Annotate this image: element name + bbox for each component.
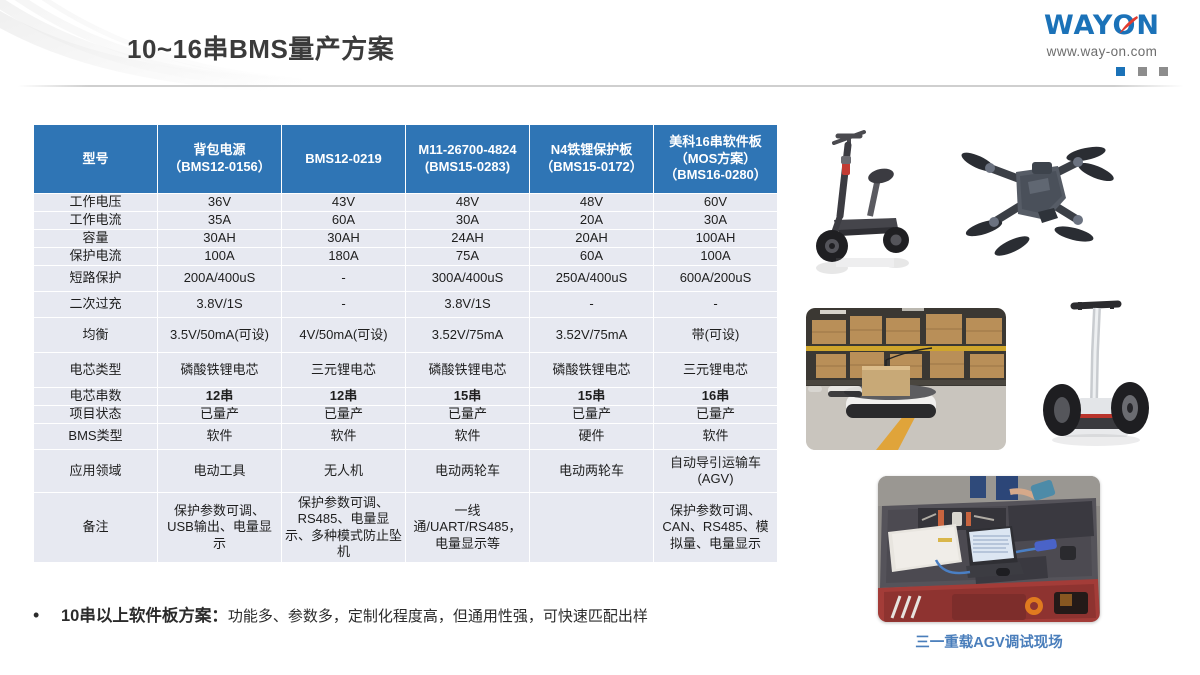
table-row: 短路保护 200A/400uS - 300A/400uS 250A/400uS … <box>34 266 777 291</box>
cell: 已量产 <box>406 406 529 423</box>
table-row: 工作电流 35A 60A 30A 20A 30A <box>34 212 777 229</box>
row-label-bms-type: BMS类型 <box>34 424 157 449</box>
cell: 电动工具 <box>158 450 281 492</box>
cell: 30A <box>654 212 777 229</box>
cell: 3.8V/1S <box>158 292 281 317</box>
column-header-bms12-0156: 背包电源 （BMS12-0156） <box>158 125 281 193</box>
table-row-cell-count: 电芯串数 12串 12串 15串 15串 16串 <box>34 388 777 405</box>
cell: 60V <box>654 194 777 211</box>
table-row: 容量 30AH 30AH 24AH 20AH 100AH <box>34 230 777 247</box>
logo-accent-swoosh-icon <box>1117 13 1139 33</box>
cell: - <box>282 266 405 291</box>
cell: 软件 <box>406 424 529 449</box>
cell: 软件 <box>158 424 281 449</box>
cell: 30A <box>406 212 529 229</box>
summary-bullet: • 10串以上软件板方案： 功能多、参数多，定制化程度高，但通用性强，可快速匹配… <box>33 602 648 626</box>
cell: 200A/400uS <box>158 266 281 291</box>
row-label-short-circuit: 短路保护 <box>34 266 157 291</box>
table-row: 均衡 3.5V/50mA(可设) 4V/50mA(可设) 3.52V/75mA … <box>34 318 777 352</box>
page-title: 10~16串BMS量产方案 <box>127 29 394 66</box>
logo-square-3-icon <box>1159 67 1168 76</box>
drone-photo <box>950 128 1120 263</box>
cell-highlight: 16串 <box>654 388 777 405</box>
logo-wordmark: WAYON <box>1018 12 1186 39</box>
column-header-bms15-0172: N4铁锂保护板 （BMS15-0172） <box>530 125 653 193</box>
table-header-row: 型号 背包电源 （BMS12-0156） BMS12-0219 M11-2670… <box>34 125 777 193</box>
electric-scooter-photo <box>808 118 920 278</box>
column-header-bms16-0280: 美科16串软件板 （MOS方案） （BMS16-0280） <box>654 125 777 193</box>
cell: 已量产 <box>282 406 405 423</box>
cell: 24AH <box>406 230 529 247</box>
row-label-balancing: 均衡 <box>34 318 157 352</box>
row-label-working-voltage: 工作电压 <box>34 194 157 211</box>
table-row: 二次过充 3.8V/1S - 3.8V/1S - - <box>34 292 777 317</box>
cell: 已量产 <box>158 406 281 423</box>
cell: 保护参数可调、USB输出、电量显示 <box>158 493 281 562</box>
cell-highlight: 15串 <box>406 388 529 405</box>
cell: - <box>654 292 777 317</box>
cell: 已量产 <box>654 406 777 423</box>
logo-word-way: WAY <box>1044 10 1112 41</box>
cell: 磷酸铁锂电芯 <box>406 353 529 387</box>
column-header-bms15-0283: M11-26700-4824 (BMS15-0283) <box>406 125 529 193</box>
bullet-body-text: 功能多、参数多，定制化程度高，但通用性强，可快速匹配出样 <box>228 605 648 626</box>
row-label-application-field: 应用领域 <box>34 450 157 492</box>
cell: 电动两轮车 <box>530 450 653 492</box>
cell: 20A <box>530 212 653 229</box>
cell: 3.52V/75mA <box>406 318 529 352</box>
cell: 电动两轮车 <box>406 450 529 492</box>
cell: 36V <box>158 194 281 211</box>
table-row: 项目状态 已量产 已量产 已量产 已量产 已量产 <box>34 406 777 423</box>
table-row: 电芯类型 磷酸铁锂电芯 三元锂电芯 磷酸铁锂电芯 磷酸铁锂电芯 三元锂电芯 <box>34 353 777 387</box>
cell: 硬件 <box>530 424 653 449</box>
row-label-cell-type: 电芯类型 <box>34 353 157 387</box>
logo-square-marks <box>1018 63 1186 81</box>
table-row: 应用领域 电动工具 无人机 电动两轮车 电动两轮车 自动导引运输车 (AGV) <box>34 450 777 492</box>
cell: 100AH <box>654 230 777 247</box>
table-row: 工作电压 36V 43V 48V 48V 60V <box>34 194 777 211</box>
cell: 保护参数可调、RS485、电量显示、多种模式防止坠机 <box>282 493 405 562</box>
cell-highlight: 12串 <box>282 388 405 405</box>
agv-debug-site-photo <box>878 476 1100 622</box>
cell: 60A <box>530 248 653 265</box>
cell: 自动导引运输车 (AGV) <box>654 450 777 492</box>
cell: 30AH <box>282 230 405 247</box>
cell: 三元锂电芯 <box>282 353 405 387</box>
cell-highlight: 12串 <box>158 388 281 405</box>
row-label-secondary-overcharge: 二次过充 <box>34 292 157 317</box>
cell: 20AH <box>530 230 653 247</box>
logo-square-1-icon <box>1116 67 1125 76</box>
cell: 一线通/UART/RS485，电量显示等 <box>406 493 529 562</box>
cell: 60A <box>282 212 405 229</box>
cell: 3.5V/50mA(可设) <box>158 318 281 352</box>
row-label-working-current: 工作电流 <box>34 212 157 229</box>
row-label-capacity: 容量 <box>34 230 157 247</box>
cell: 三元锂电芯 <box>654 353 777 387</box>
cell: 4V/50mA(可设) <box>282 318 405 352</box>
cell: 3.52V/75mA <box>530 318 653 352</box>
cell: 已量产 <box>530 406 653 423</box>
cell-highlight: 15串 <box>530 388 653 405</box>
row-label-cell-count: 电芯串数 <box>34 388 157 405</box>
table-row: 备注 保护参数可调、USB输出、电量显示 保护参数可调、RS485、电量显示、多… <box>34 493 777 562</box>
photo-caption: 三一重载AGV调试现场 <box>878 631 1100 652</box>
table-row: BMS类型 软件 软件 软件 硬件 软件 <box>34 424 777 449</box>
cell: 250A/400uS <box>530 266 653 291</box>
cell: 软件 <box>282 424 405 449</box>
cell: 600A/200uS <box>654 266 777 291</box>
cell: - <box>530 292 653 317</box>
column-header-model: 型号 <box>34 125 157 193</box>
cell: 3.8V/1S <box>406 292 529 317</box>
bullet-strong-text: 10串以上软件板方案： <box>61 602 228 626</box>
cell: 磷酸铁锂电芯 <box>158 353 281 387</box>
cell <box>530 493 653 562</box>
cell: 磷酸铁锂电芯 <box>530 353 653 387</box>
cell: 75A <box>406 248 529 265</box>
cell: 无人机 <box>282 450 405 492</box>
cell: 带(可设) <box>654 318 777 352</box>
column-header-bms12-0219: BMS12-0219 <box>282 125 405 193</box>
logo-website-url: www.way-on.com <box>1018 44 1186 59</box>
company-logo: WAYON www.way-on.com <box>1018 12 1186 81</box>
header-divider-line <box>18 85 1184 87</box>
segway-photo <box>1040 290 1150 450</box>
cell: 48V <box>530 194 653 211</box>
cell: 软件 <box>654 424 777 449</box>
cell: 100A <box>654 248 777 265</box>
row-label-project-status: 项目状态 <box>34 406 157 423</box>
cell: 180A <box>282 248 405 265</box>
cell: 300A/400uS <box>406 266 529 291</box>
cell: 100A <box>158 248 281 265</box>
cell: - <box>282 292 405 317</box>
bms-spec-table: 型号 背包电源 （BMS12-0156） BMS12-0219 M11-2670… <box>33 124 778 563</box>
row-label-remarks: 备注 <box>34 493 157 562</box>
cell: 30AH <box>158 230 281 247</box>
cell: 保护参数可调、CAN、RS485、模拟量、电量显示 <box>654 493 777 562</box>
table-row: 保护电流 100A 180A 75A 60A 100A <box>34 248 777 265</box>
logo-square-2-icon <box>1138 67 1147 76</box>
cell: 35A <box>158 212 281 229</box>
slide-root: 10~16串BMS量产方案 WAYON www.way-on.com 型号 <box>0 0 1200 675</box>
bullet-marker-icon: • <box>33 606 61 624</box>
row-label-protect-current: 保护电流 <box>34 248 157 265</box>
cell: 43V <box>282 194 405 211</box>
cell: 48V <box>406 194 529 211</box>
warehouse-agv-photo <box>806 308 1006 450</box>
